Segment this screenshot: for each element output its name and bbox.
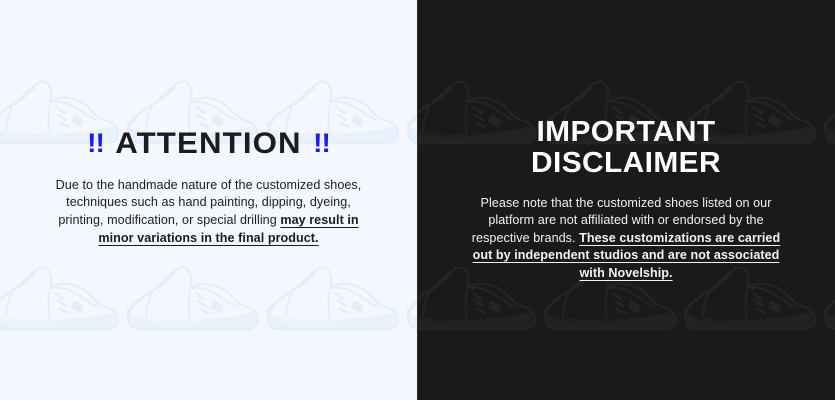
- disclaimer-heading: IMPORTANT DISCLAIMER: [435, 117, 816, 179]
- disclaimer-heading-line-1: IMPORTANT: [435, 117, 816, 148]
- exclamation-right-icon: !!: [313, 129, 330, 158]
- customization-notice-banner: !! ATTENTION !! Due to the handmade natu…: [0, 0, 835, 400]
- panel-divider: [417, 0, 418, 400]
- disclaimer-panel-content: IMPORTANT DISCLAIMER Please note that th…: [417, 0, 835, 282]
- attention-panel-content: !! ATTENTION !! Due to the handmade natu…: [0, 0, 417, 247]
- disclaimer-body-text: Please note that the customized shoes li…: [461, 195, 791, 282]
- attention-heading: !! ATTENTION !!: [17, 128, 401, 160]
- attention-body-text: Due to the handmade nature of the custom…: [49, 177, 369, 247]
- attention-panel: !! ATTENTION !! Due to the handmade natu…: [0, 0, 417, 400]
- disclaimer-heading-line-2: DISCLAIMER: [435, 148, 816, 179]
- attention-heading-text: ATTENTION: [115, 128, 302, 160]
- exclamation-left-icon: !!: [87, 129, 104, 158]
- disclaimer-panel: IMPORTANT DISCLAIMER Please note that th…: [417, 0, 835, 400]
